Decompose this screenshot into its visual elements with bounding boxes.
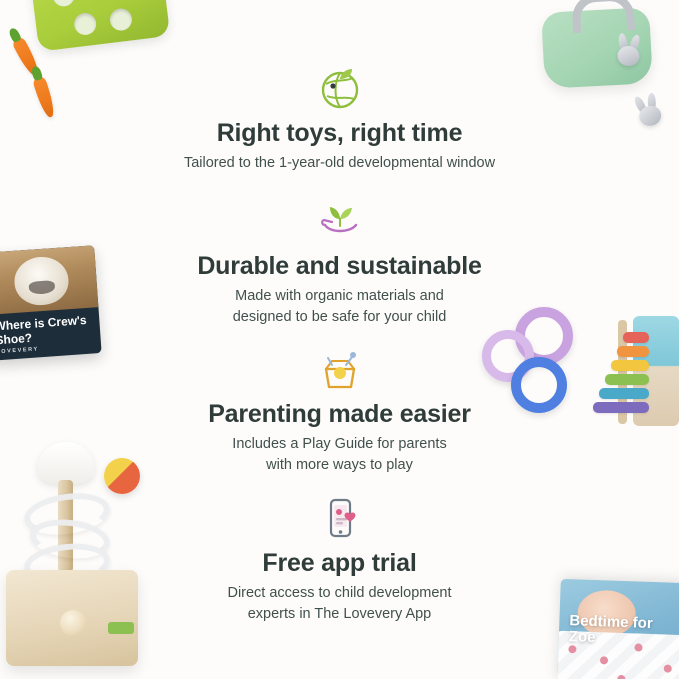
feature-line: Tailored to the 1-year-old developmental…: [0, 153, 679, 174]
feature-title: Right toys, right time: [0, 120, 679, 148]
feature-line: designed to be safe for your child: [0, 307, 679, 328]
feature-line: Direct access to child development: [0, 583, 679, 604]
feature-parenting-made-easier: Parenting made easier Includes a Play Gu…: [0, 343, 679, 476]
feature-line: experts in The Lovevery App: [0, 604, 679, 625]
feature-free-app-trial: Free app trial Direct access to child de…: [0, 492, 679, 625]
hand-holding-plant-icon: [312, 195, 368, 247]
globe-sprout-icon: [312, 62, 368, 114]
product-feature-graphic: Where is Crew's Shoe? LOVEVERY Bedtime f…: [0, 0, 679, 679]
feature-durable-and-sustainable: Durable and sustainable Made with organi…: [0, 195, 679, 328]
open-box-toy-icon: [312, 343, 368, 395]
phone-app-heart-icon: [312, 492, 368, 544]
feature-title: Parenting made easier: [0, 401, 679, 429]
feature-title: Durable and sustainable: [0, 253, 679, 281]
feature-line: Made with organic materials and: [0, 286, 679, 307]
feature-line: Includes a Play Guide for parents: [0, 434, 679, 455]
feature-title: Free app trial: [0, 550, 679, 578]
feature-line: with more ways to play: [0, 455, 679, 476]
feature-list: Right toys, right time Tailored to the 1…: [0, 0, 679, 679]
feature-right-toys-right-time: Right toys, right time Tailored to the 1…: [0, 62, 679, 174]
